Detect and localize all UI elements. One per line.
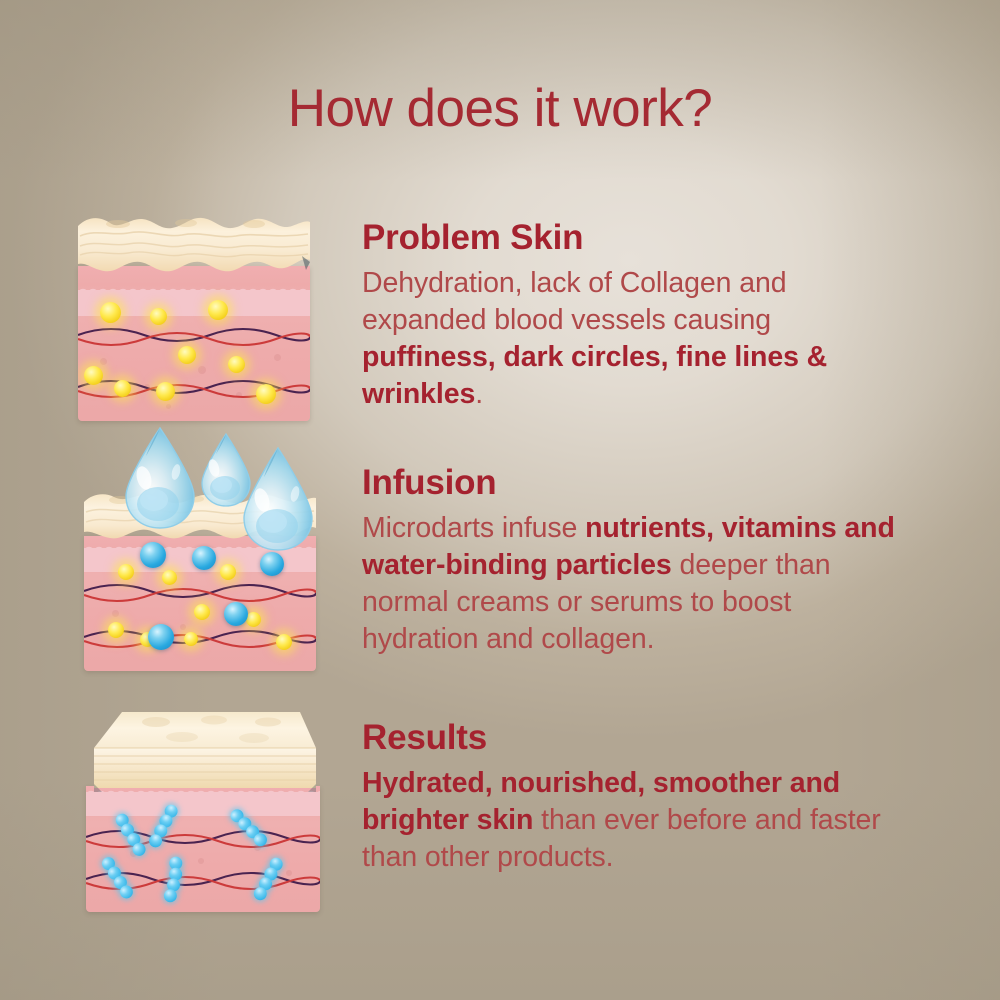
body-part-plain: Microdarts infuse [362, 512, 585, 544]
water-droplet [118, 426, 202, 530]
results-text: Results Hydrated, nourished, smoother an… [362, 720, 892, 876]
blood-vessels [84, 582, 316, 604]
section-heading: Infusion [362, 465, 907, 502]
infusion-text: Infusion Microdarts infuse nutrients, vi… [362, 465, 907, 658]
skin-cross-section-problem [78, 216, 310, 421]
section-problem-skin: Problem Skin Dehydration, lack of Collag… [0, 200, 1000, 430]
section-body: Hydrated, nourished, smoother and bright… [362, 765, 892, 876]
body-part-plain: Dehydration, lack of Collagen and expand… [362, 267, 786, 336]
nutrient-particle [228, 356, 245, 373]
nutrient-particle [150, 308, 167, 325]
water-binding-particle [148, 624, 174, 650]
nutrient-particle [118, 564, 134, 580]
epidermis-wavy [78, 216, 310, 280]
nutrient-particle [220, 564, 236, 580]
papillary-dermis [86, 792, 320, 816]
nutrient-particle [84, 366, 103, 385]
section-infusion: Infusion Microdarts infuse nutrients, vi… [0, 420, 1000, 670]
water-binding-particle [192, 546, 216, 570]
section-body: Dehydration, lack of Collagen and expand… [362, 265, 882, 413]
section-body: Microdarts infuse nutrients, vitamins an… [362, 510, 907, 658]
nutrient-particle [208, 300, 228, 320]
nutrient-particle [156, 382, 175, 401]
section-results: Results Hydrated, nourished, smoother an… [0, 690, 1000, 920]
blood-vessels [78, 326, 310, 348]
water-droplet [236, 446, 320, 552]
nutrient-particle [184, 632, 198, 646]
section-heading: Problem Skin [362, 220, 882, 257]
problem-skin-text: Problem Skin Dehydration, lack of Collag… [362, 220, 882, 413]
nutrient-particle [246, 612, 261, 627]
skin-cross-section-results [86, 706, 320, 912]
water-binding-particle [224, 602, 248, 626]
nutrient-particle [256, 384, 276, 404]
nutrient-particle [178, 346, 196, 364]
nutrient-particle [194, 604, 210, 620]
body-part-bold: puffiness, dark circles, fine lines & wr… [362, 341, 827, 410]
body-part-plain: . [475, 378, 483, 410]
skin-cross-section-infusion [84, 426, 316, 671]
nutrient-particle [108, 622, 124, 638]
page-title: How does it work? [0, 78, 1000, 139]
nutrient-particle [114, 380, 131, 397]
water-binding-particle [260, 552, 284, 576]
section-heading: Results [362, 720, 892, 757]
epidermis-smooth-3d [86, 706, 320, 794]
nutrient-particle [100, 302, 121, 323]
nutrient-particle [276, 634, 292, 650]
nutrient-particle [162, 570, 177, 585]
infographic-page: How does it work? [0, 0, 1000, 1000]
